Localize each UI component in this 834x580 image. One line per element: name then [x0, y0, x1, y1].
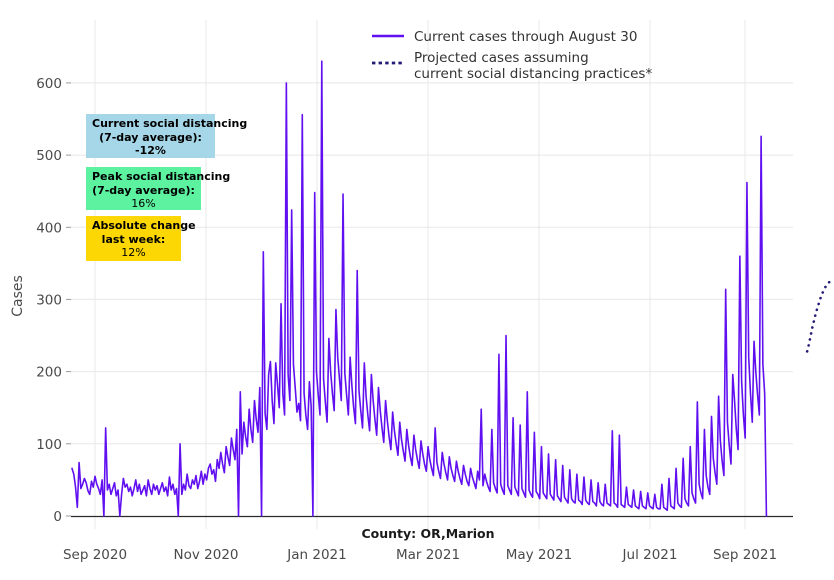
- x-tick-label: Jan 2021: [286, 547, 346, 563]
- y-tick-label: 0: [53, 509, 62, 525]
- legend-label-current-cases: Current cases through August 30: [414, 29, 637, 45]
- annotation-peak-social-distancing: Peak social distancing (7-day average): …: [86, 167, 201, 210]
- annotation-peak-head: Peak social distancing: [92, 170, 195, 184]
- annotation-current-value: -12%: [92, 144, 209, 158]
- legend-label-projected-cases-line2: current social distancing practices*: [414, 66, 652, 82]
- annotation-peak-sub: (7-day average):: [92, 184, 195, 198]
- y-tick-label: 500: [36, 148, 62, 164]
- y-tick-label: 200: [36, 365, 62, 381]
- annotation-peak-value: 16%: [92, 197, 195, 211]
- x-tick-label: Nov 2020: [174, 547, 239, 563]
- x-tick-label: Sep 2021: [713, 547, 777, 563]
- x-axis-title: County: OR,Marion: [361, 526, 494, 541]
- annotation-current-social-distancing: Current social distancing (7-day average…: [86, 114, 215, 158]
- y-tick-label: 600: [36, 76, 62, 92]
- y-tick-label: 300: [36, 292, 62, 308]
- legend-label-projected-cases-line1: Projected cases assuming: [414, 50, 589, 66]
- x-tick-label: Sep 2020: [63, 547, 127, 563]
- x-tick-label: May 2021: [506, 547, 573, 563]
- annotation-current-head: Current social distancing: [92, 117, 209, 131]
- cases-line-chart: 0100200300400500600 Sep 2020Nov 2020Jan …: [0, 0, 834, 580]
- annotation-absolute-change: Absolute change last week: 12%: [86, 216, 181, 261]
- x-tick-label: Mar 2021: [396, 547, 460, 563]
- annotation-change-sub: last week:: [92, 233, 175, 247]
- annotation-current-sub: (7-day average):: [92, 131, 209, 145]
- y-tick-label: 400: [36, 220, 62, 236]
- annotation-change-value: 12%: [92, 246, 175, 260]
- x-tick-label: Jul 2021: [622, 547, 678, 563]
- y-tick-label: 100: [36, 437, 62, 453]
- y-axis-title: Cases: [10, 275, 26, 317]
- chart-container: 0100200300400500600 Sep 2020Nov 2020Jan …: [0, 0, 834, 580]
- annotation-change-head: Absolute change: [92, 219, 175, 233]
